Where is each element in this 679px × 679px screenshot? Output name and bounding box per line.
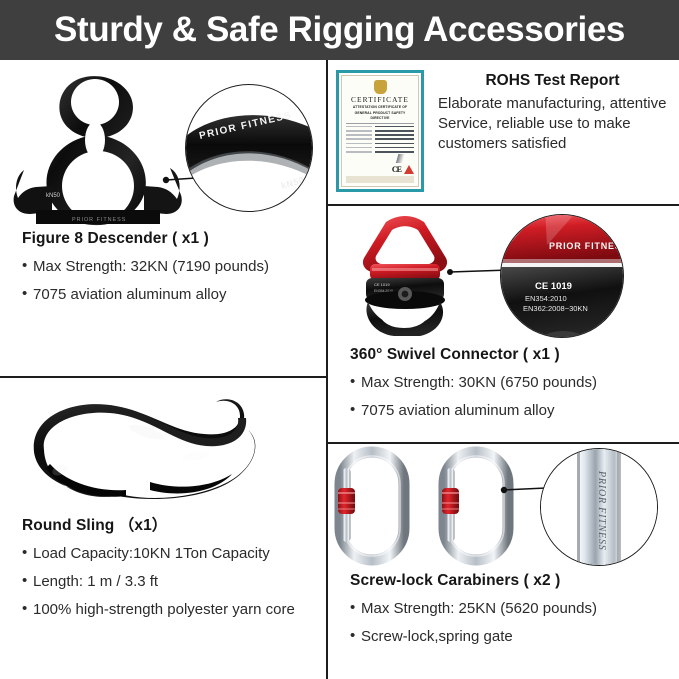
carabiner-bullet-strength: Max Strength: 25KN (5620 pounds) bbox=[350, 599, 669, 618]
figure8-bullet-strength: Max Strength: 32KN (7190 pounds) bbox=[22, 257, 316, 276]
swivel-zoom-std2: EN362:2008~30KN bbox=[523, 304, 588, 313]
swivel-text-block: 360° Swivel Connector ( x1 ) Max Strengt… bbox=[328, 346, 679, 420]
swivel-zoom-std1: EN354:2010 bbox=[525, 294, 567, 303]
figure8-leader-line bbox=[166, 178, 196, 180]
infographic-page: Sturdy & Safe Rigging Accessories bbox=[0, 0, 679, 679]
swivel-zoom-callout: PRIOR FITNESS CE 1019 EN354:2010 EN362:2… bbox=[500, 214, 624, 338]
figure8-side-engraving: kN50 bbox=[46, 193, 61, 199]
ce-mark-icon: CE bbox=[392, 165, 401, 174]
sling-bullet-capacity: Load Capacity:10KN 1Ton Capacity bbox=[22, 544, 316, 563]
sling-bullet-list: Load Capacity:10KN 1Ton Capacity Length:… bbox=[22, 544, 316, 620]
carabiner-title: Screw-lock Carabiners ( x2 ) bbox=[350, 572, 669, 590]
swivel-small-view: CE 1019 EN354:2010 EN362:2008~30KN bbox=[363, 216, 447, 336]
swivel-bullet-list: Max Strength: 30KN (6750 pounds) 7075 av… bbox=[350, 373, 669, 420]
figure8-brand-engraving: PRIOR FITNESS bbox=[72, 217, 126, 223]
certificate-subtitle-1: ATTESTATION CERTIFICATE OF bbox=[346, 105, 414, 110]
certificate-seal-icon bbox=[374, 80, 387, 94]
sling-bullet-material: 100% high-strength polyester yarn core bbox=[22, 600, 316, 619]
certificate-field-lines bbox=[346, 126, 414, 153]
certificate-footer: CE bbox=[346, 154, 414, 183]
figure8-zoom-callout: PRIOR FITNESS kN50 bbox=[185, 84, 313, 212]
panel-carabiners: PRIOR FITNESS Screw-lock Carabiners ( x2… bbox=[328, 444, 679, 679]
swivel-zoom-ce: CE 1019 bbox=[535, 281, 572, 292]
swivel-bullet-material: 7075 aviation aluminum alloy bbox=[350, 401, 669, 420]
swivel-small-ce: CE 1019 bbox=[374, 282, 390, 287]
swivel-bullet-strength: Max Strength: 30KN (6750 pounds) bbox=[350, 373, 669, 392]
figure8-bullet-list: Max Strength: 32KN (7190 pounds) 7075 av… bbox=[22, 257, 316, 304]
sling-text-block: Round Sling （x1） Load Capacity:10KN 1Ton… bbox=[0, 513, 326, 620]
swivel-image: CE 1019 EN354:2010 EN362:2008~30KN bbox=[328, 206, 679, 346]
figure8-body: kN50 PRIOR FITNESS bbox=[14, 76, 182, 225]
carabiner-zoom-callout: PRIOR FITNESS bbox=[540, 448, 658, 566]
figure8-text-block: Figure 8 Descender ( x1 ) Max Strength: … bbox=[0, 230, 326, 304]
sling-title: Round Sling （x1） bbox=[22, 513, 316, 535]
warning-triangle-icon bbox=[404, 165, 414, 174]
sling-loops bbox=[34, 399, 256, 499]
carabiner-2 bbox=[442, 452, 508, 560]
panel-swivel-connector: CE 1019 EN354:2010 EN362:2008~30KN bbox=[328, 206, 679, 442]
figure8-title: Figure 8 Descender ( x1 ) bbox=[22, 230, 316, 248]
figure8-bullet-material: 7075 aviation aluminum alloy bbox=[22, 285, 316, 304]
certificate-word: CERTIFICATE bbox=[346, 95, 414, 104]
certificate-subtitle-2: GENERAL PRODUCT SAFETY DIRECTIVE bbox=[346, 111, 414, 121]
certificate-signature bbox=[386, 154, 414, 163]
swivel-title: 360° Swivel Connector ( x1 ) bbox=[350, 346, 669, 364]
swivel-leader-dot bbox=[447, 269, 453, 275]
certificate-bottom-bar bbox=[346, 176, 414, 183]
panel-rohs-report: CERTIFICATE ATTESTATION CERTIFICATE OF G… bbox=[328, 62, 679, 204]
carabiner-bullet-gate: Screw-lock,spring gate bbox=[350, 627, 669, 646]
round-sling-art bbox=[0, 378, 326, 513]
carabiner-bullet-list: Max Strength: 25KN (5620 pounds) Screw-l… bbox=[350, 599, 669, 646]
panel-round-sling: Round Sling （x1） Load Capacity:10KN 1Ton… bbox=[0, 378, 326, 679]
rohs-description: Elaborate manufacturing, attentive Servi… bbox=[438, 94, 667, 154]
certificate-image: CERTIFICATE ATTESTATION CERTIFICATE OF G… bbox=[336, 70, 424, 192]
carabiner-text-block: Screw-lock Carabiners ( x2 ) Max Strengt… bbox=[328, 572, 679, 646]
carabiner-1 bbox=[338, 452, 404, 560]
figure8-leader-dot bbox=[163, 177, 169, 183]
sling-bullet-length: Length: 1 m / 3.3 ft bbox=[22, 572, 316, 591]
carabiner-zoom-brand: PRIOR FITNESS bbox=[596, 470, 607, 551]
page-title: Sturdy & Safe Rigging Accessories bbox=[54, 10, 625, 50]
swivel-zoom-brand: PRIOR FITNESS bbox=[549, 241, 624, 251]
rohs-heading: ROHS Test Report bbox=[438, 72, 667, 90]
sling-image bbox=[0, 378, 326, 513]
header-banner: Sturdy & Safe Rigging Accessories bbox=[0, 0, 679, 60]
figure8-image: kN50 PRIOR FITNESS bbox=[0, 62, 326, 230]
carabiner-leader-dot bbox=[501, 487, 507, 493]
panel-figure8-descender: kN50 PRIOR FITNESS bbox=[0, 62, 326, 376]
certificate-divider bbox=[346, 123, 414, 124]
rohs-text-block: ROHS Test Report Elaborate manufacturing… bbox=[438, 70, 667, 192]
carabiner-image: PRIOR FITNESS bbox=[328, 444, 679, 572]
